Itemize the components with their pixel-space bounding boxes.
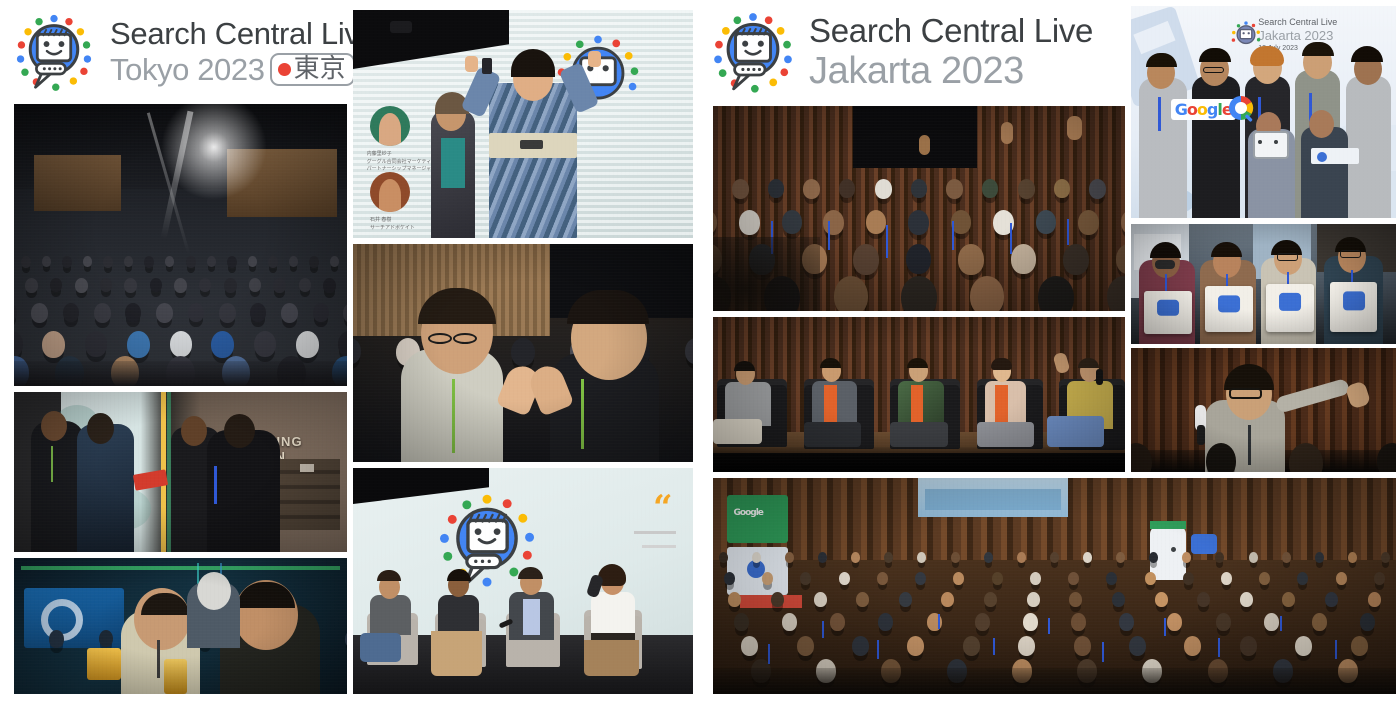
jakarta-group-photo-scene: Google bbox=[713, 478, 1396, 694]
photo-collage-board: Search Central Live Tokyo 2023 東京 bbox=[0, 0, 1400, 704]
tokyo-yukata-scene: 内藤里紗子グーグル合同会社マーケティングパートナーシップマネージャー 石井 春樹… bbox=[353, 10, 693, 238]
japan-flag-dot-icon bbox=[278, 63, 291, 76]
tokyo-badge-text: 東京 bbox=[294, 56, 346, 82]
jakarta-event-header: Search Central Live Jakarta 2023 bbox=[707, 6, 1093, 98]
photo-tokyo-badge-exchange[interactable]: CHARGING STATION bbox=[14, 392, 347, 552]
photo-tokyo-panel-stage[interactable]: “ bbox=[353, 468, 693, 694]
jakarta-panel-scene bbox=[713, 317, 1125, 472]
jakarta-title-line2: Jakarta 2023 bbox=[809, 52, 1093, 90]
tokyo-event-header: Search Central Live Tokyo 2023 東京 bbox=[8, 8, 377, 96]
tokyo-audience-scene bbox=[14, 104, 347, 386]
jakarta-photobooth-scene: Search Central Live Jakarta 2023 12 July… bbox=[1131, 6, 1396, 218]
jakarta-title-line1: Search Central Live bbox=[809, 14, 1093, 47]
tokyo-title-line1: Search Central Live bbox=[110, 18, 377, 49]
photo-jakarta-swag-bags[interactable] bbox=[1131, 224, 1396, 344]
jakarta-logo-text: Search Central Live Jakarta 2023 bbox=[809, 14, 1093, 90]
tokyo-charging-station-scene: CHARGING STATION bbox=[14, 392, 347, 552]
tokyo-panel-scene: “ bbox=[353, 468, 693, 694]
photo-jakarta-question-mic[interactable] bbox=[1131, 348, 1396, 472]
photo-tokyo-yukata-stage[interactable]: 内藤里紗子グーグル合同会社マーケティングパートナーシップマネージャー 石井 春樹… bbox=[353, 10, 693, 238]
photo-jakarta-audience-waving[interactable] bbox=[713, 106, 1125, 311]
tokyo-reception-scene bbox=[14, 558, 347, 694]
photo-jakarta-photobooth[interactable]: Search Central Live Jakarta 2023 12 July… bbox=[1131, 6, 1396, 218]
tokyo-japan-badge: 東京 bbox=[270, 53, 355, 86]
photo-tokyo-audience-group[interactable] bbox=[14, 104, 347, 386]
photo-jakarta-panel-stage[interactable] bbox=[713, 317, 1125, 472]
jakarta-swag-scene bbox=[1131, 224, 1396, 344]
tokyo-heart-hands-scene bbox=[353, 244, 693, 462]
search-central-mascot-logo-jakarta bbox=[707, 6, 799, 98]
photo-tokyo-heart-hands[interactable] bbox=[353, 244, 693, 462]
photo-tokyo-networking-drinks[interactable] bbox=[14, 558, 347, 694]
jakarta-audience-scene bbox=[713, 106, 1125, 311]
tokyo-title-line2: Tokyo 2023 bbox=[110, 54, 265, 85]
photo-jakarta-group-photo[interactable]: Google bbox=[713, 478, 1396, 694]
jakarta-question-scene bbox=[1131, 348, 1396, 472]
tokyo-logo-text: Search Central Live Tokyo 2023 東京 bbox=[110, 18, 377, 86]
search-central-mascot-logo-tokyo bbox=[8, 8, 100, 96]
